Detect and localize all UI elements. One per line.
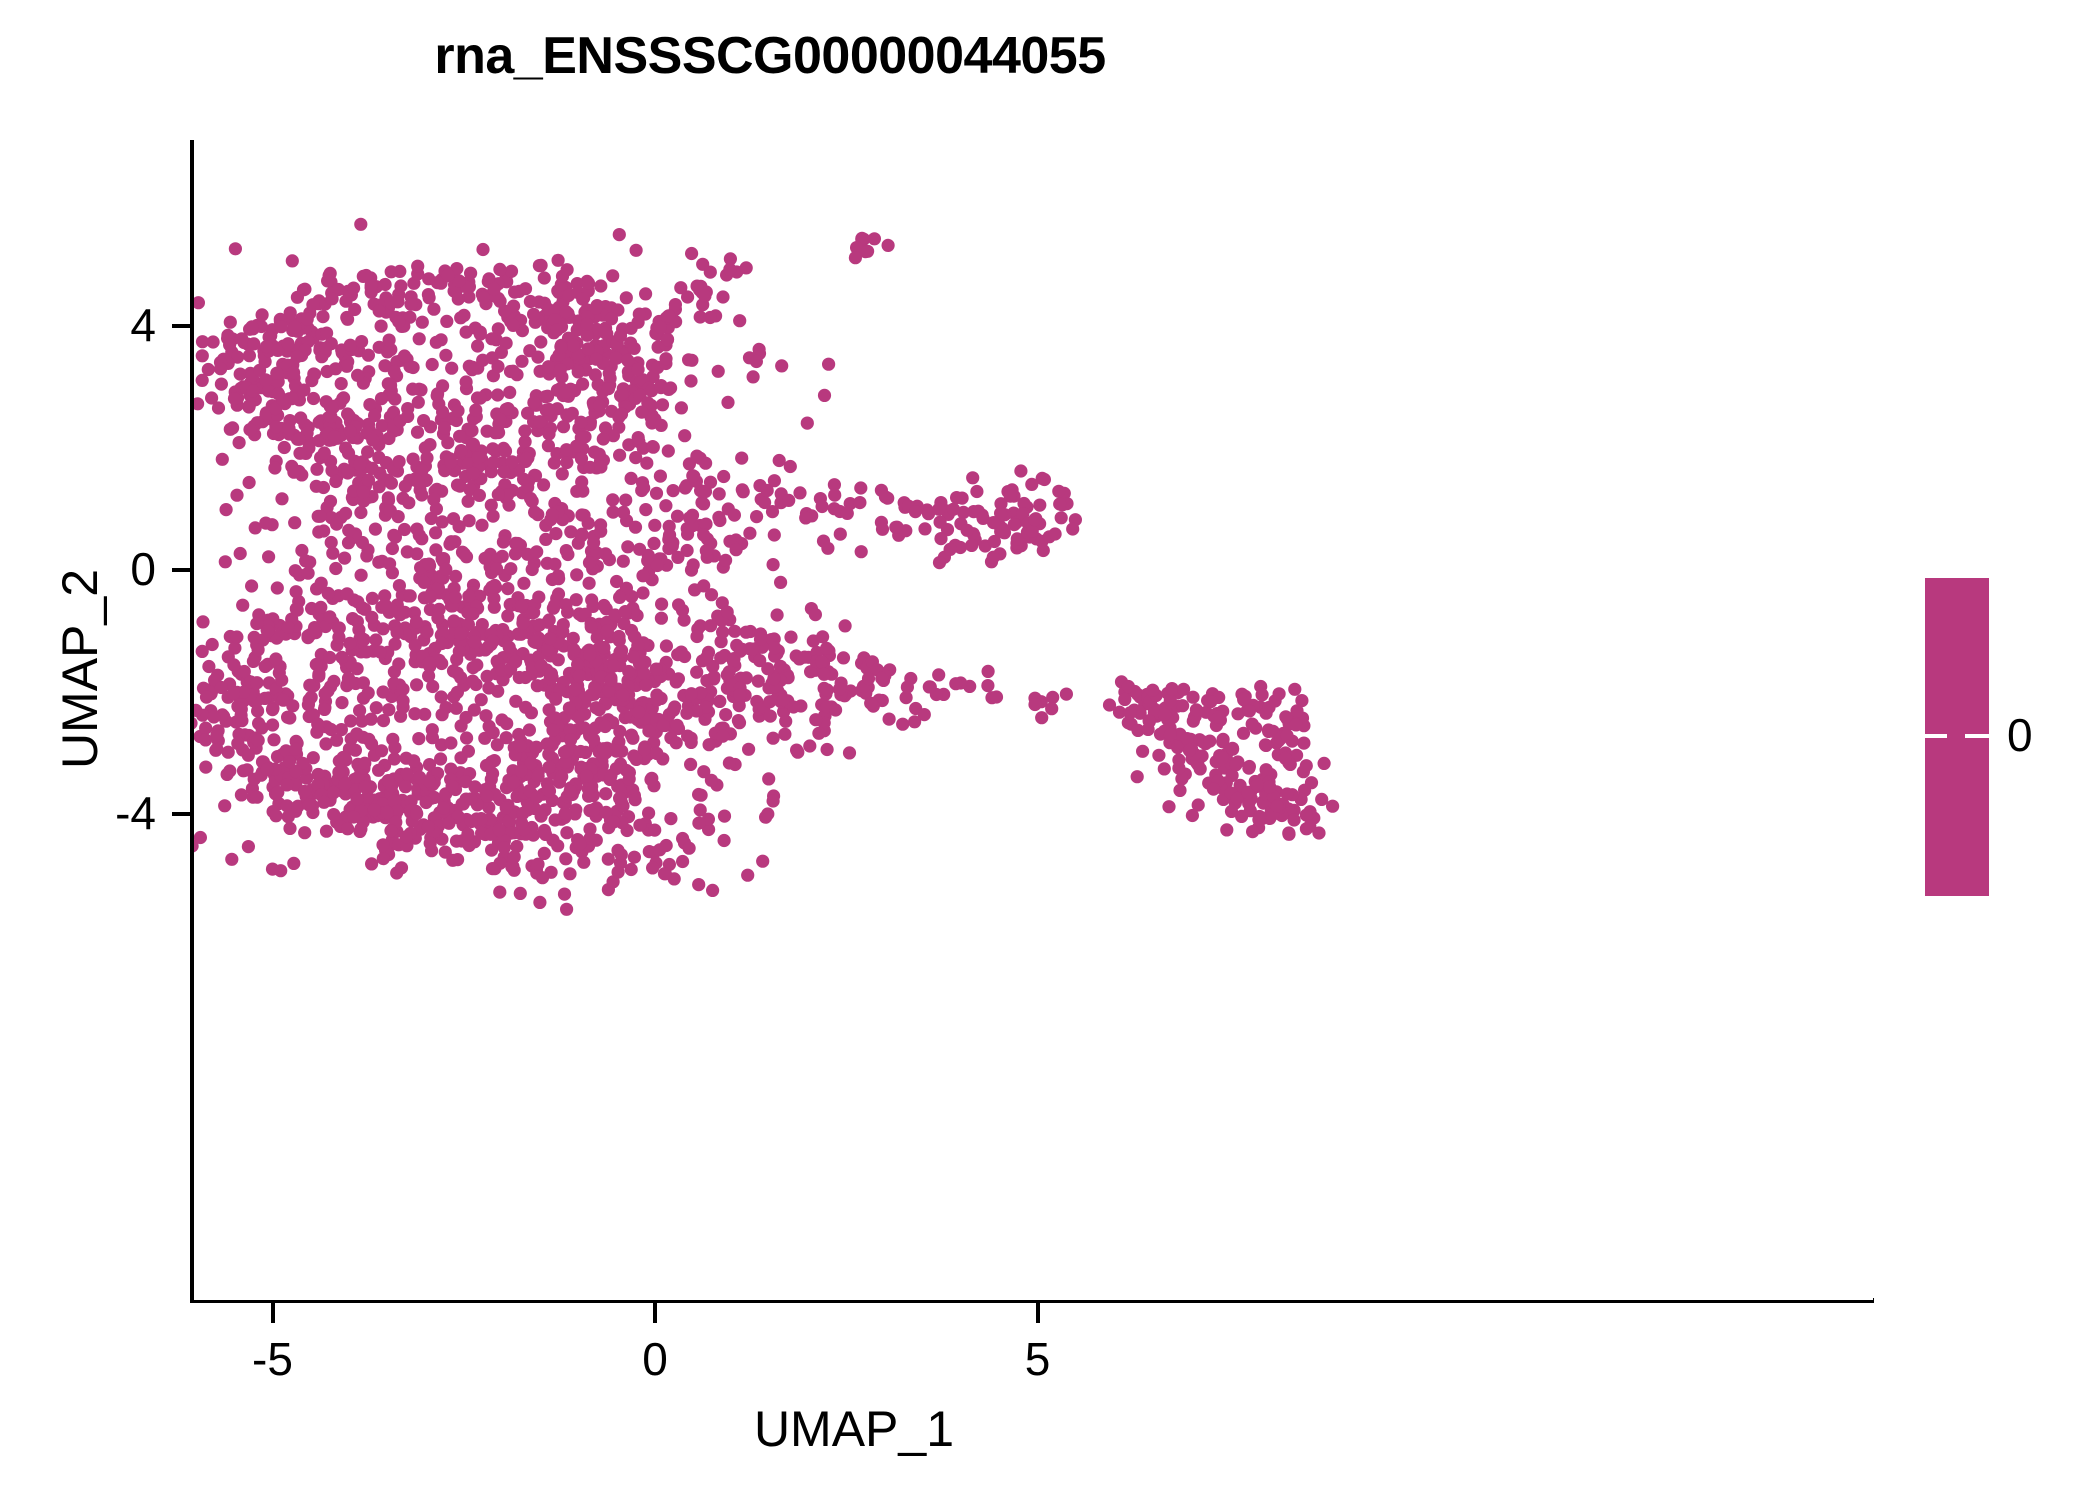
plot-panel [194,140,1873,1300]
colorbar-tick-gap [1947,732,1965,740]
legend: 0 [1925,578,2075,898]
x-axis-tick [1036,1303,1040,1323]
scatter-points-layer [194,140,1873,1300]
colorbar-tick-label: 0 [2007,708,2033,762]
figure-root: rna_ENSSSCG00000044055 4 0 -4 -5 0 5 UMA… [0,0,2100,1500]
x-axis-title: UMAP_1 [194,1400,1514,1458]
x-axis-tick [653,1303,657,1323]
y-axis-tick [172,324,190,328]
x-axis-tick-label: 5 [1025,1332,1051,1386]
x-axis-tick-label: -5 [252,1332,293,1386]
colorbar[interactable] [1925,578,1989,896]
y-axis-tick [172,812,190,816]
x-axis-tick-label: 0 [642,1332,668,1386]
y-axis-tick [172,568,190,572]
y-axis-title: UMAP_2 [51,319,109,1019]
x-axis-tick [271,1303,275,1323]
page-title: rna_ENSSSCG00000044055 [0,26,1540,86]
